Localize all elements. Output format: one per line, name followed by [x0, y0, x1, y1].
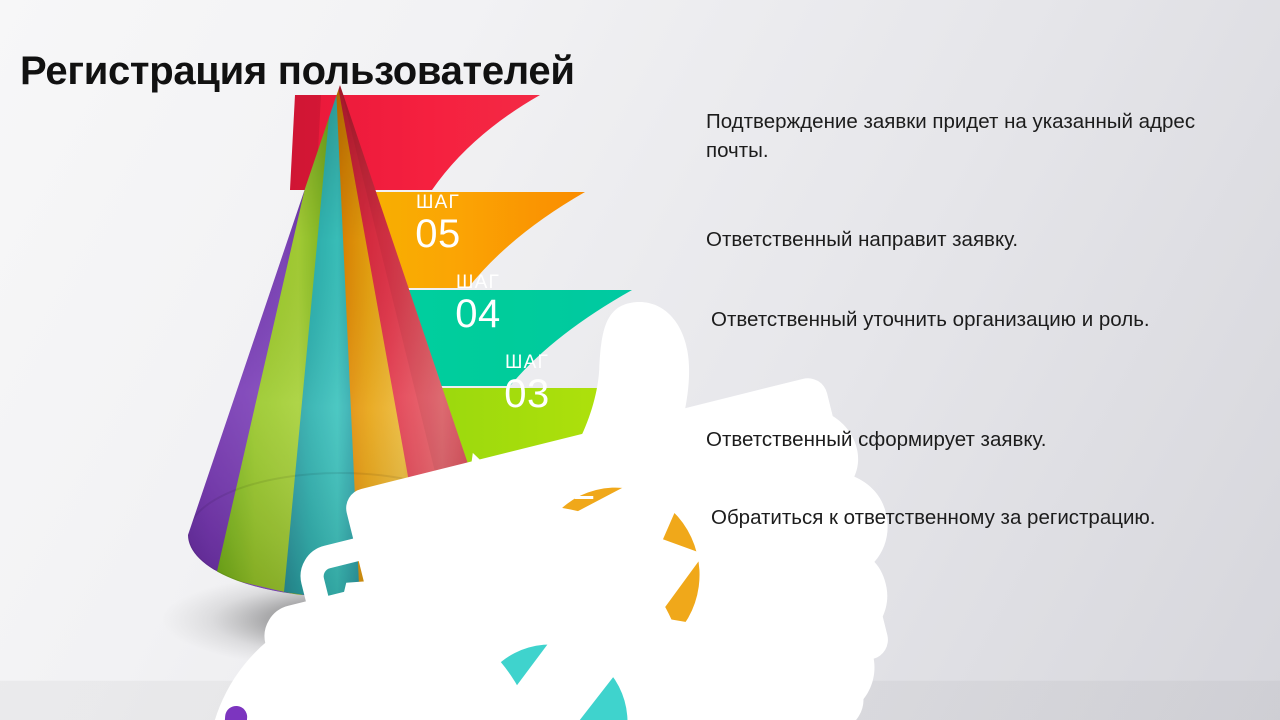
step-description-04: Ответственный направит заявку. [706, 225, 1258, 254]
slide-canvas: Регистрация пользователей [0, 0, 1280, 720]
step-description-02: Ответственный сформирует заявку. [706, 425, 1258, 454]
step-description-03: Ответственный уточнить организацию и рол… [706, 305, 1258, 334]
step-descriptions: Подтверждение заявки придет на указанный… [706, 86, 1258, 566]
step-description-05: Подтверждение заявки придет на указанный… [706, 107, 1258, 165]
step-description-01: Обратиться к ответственному за регистрац… [706, 503, 1258, 532]
cone-step-infographic: $ ШАГ [40, 80, 700, 680]
